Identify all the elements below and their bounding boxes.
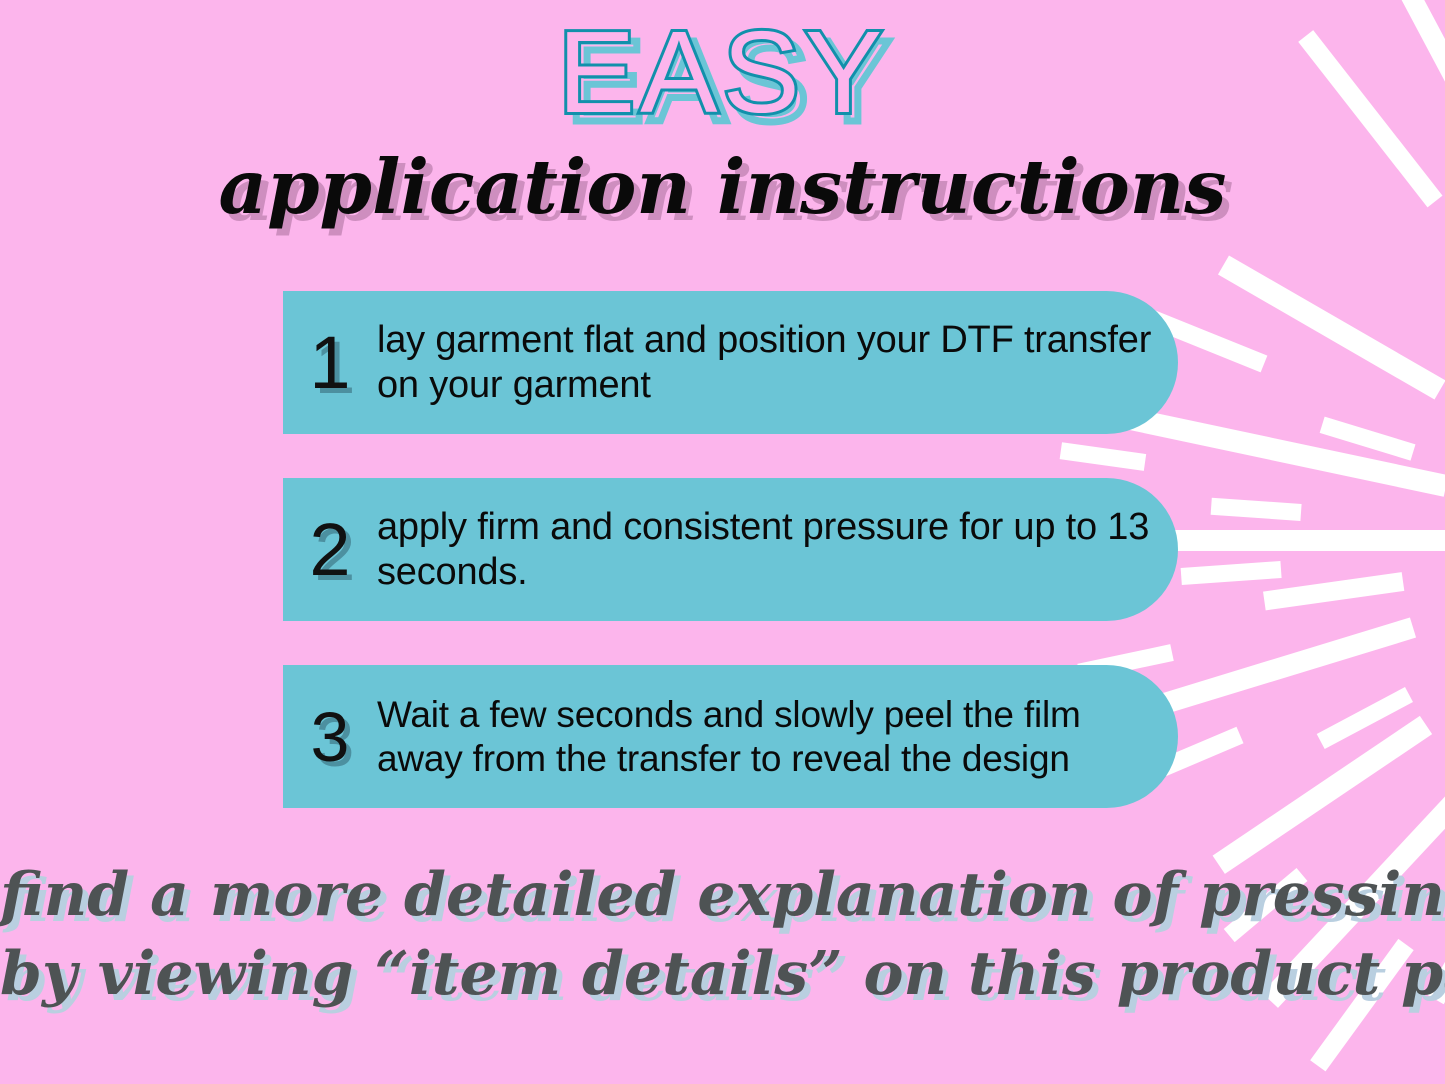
- step-item-1: 1 lay garment flat and position your DTF…: [283, 291, 1178, 434]
- footer-callout: find a more detailed explanation of pres…: [0, 856, 1445, 1014]
- steps-list: 1 lay garment flat and position your DTF…: [283, 291, 1183, 852]
- burst-dash: [1316, 687, 1412, 749]
- step-text-3: Wait a few seconds and slowly peel the f…: [365, 693, 1178, 780]
- step-text-1: lay garment flat and position your DTF t…: [365, 318, 1178, 407]
- burst-dash: [1263, 572, 1404, 610]
- application-instructions-heading: application instructions: [0, 150, 1445, 225]
- footer-line-2: by viewing “item details” on this produc…: [0, 935, 1445, 1014]
- burst-dash: [1211, 497, 1302, 520]
- burst-dash: [1213, 715, 1433, 873]
- burst-dash: [1218, 255, 1445, 399]
- step-item-2: 2 apply firm and consistent pressure for…: [283, 478, 1178, 621]
- poster-canvas: EASY EASY EASY application instructions …: [0, 0, 1445, 1084]
- easy-title-wrapper: EASY EASY EASY: [0, 14, 1445, 144]
- burst-dash: [1320, 416, 1416, 460]
- footer-line-1: find a more detailed explanation of pres…: [0, 856, 1445, 935]
- easy-title-fill: EASY: [558, 14, 887, 130]
- step-text-2: apply firm and consistent pressure for u…: [365, 505, 1178, 594]
- easy-title: EASY EASY EASY: [558, 14, 887, 130]
- burst-dash: [1181, 561, 1282, 585]
- step-number-3: 3: [283, 702, 365, 772]
- step-number-2: 2: [283, 513, 365, 587]
- step-number-1: 1: [283, 326, 365, 400]
- step-item-3: 3 Wait a few seconds and slowly peel the…: [283, 665, 1178, 808]
